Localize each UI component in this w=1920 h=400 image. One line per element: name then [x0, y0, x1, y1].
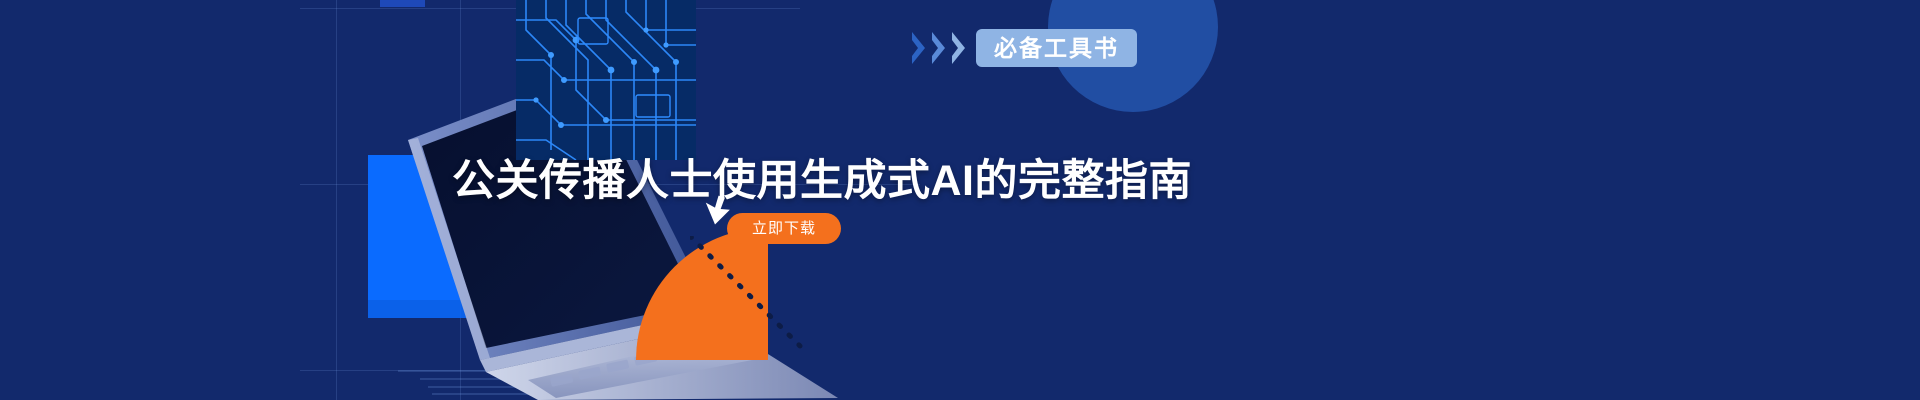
download-button[interactable]: 立即下载	[727, 213, 841, 244]
download-button-label: 立即下载	[752, 221, 816, 236]
promo-banner: 必备工具书 公关传播人士使用生成式AI的完整指南 立即下载	[0, 0, 1920, 400]
double-chevron-right-icon	[910, 29, 928, 67]
mouse-cursor-arrow-icon	[698, 192, 732, 226]
top-accent-bar	[380, 0, 425, 7]
page-title: 公关传播人士使用生成式AI的完整指南	[452, 146, 1192, 208]
double-chevron-right-icon	[950, 29, 968, 67]
double-chevron-right-icon	[930, 29, 948, 67]
badge-pill: 必备工具书	[976, 29, 1137, 67]
grid-line-vertical	[336, 0, 337, 400]
badge-label: 必备工具书	[994, 37, 1119, 60]
badge: 必备工具书	[910, 29, 1137, 67]
circuit-board-texture	[516, 0, 696, 160]
